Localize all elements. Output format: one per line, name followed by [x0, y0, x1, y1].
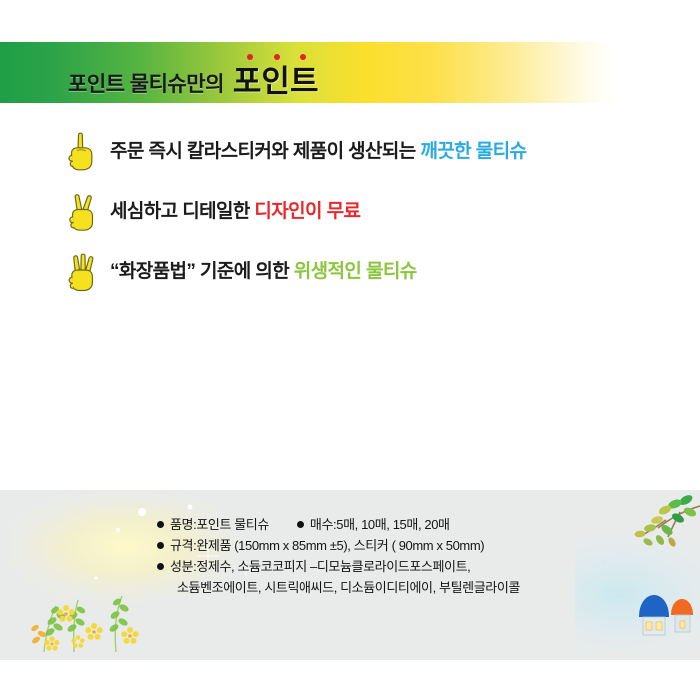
- leafy-branch-decoration: [620, 490, 700, 560]
- spec-label: 품명: [170, 514, 193, 535]
- bullet-dot-icon: [297, 521, 304, 528]
- page-title-prefix: 포인트 물티슈만의: [68, 74, 224, 97]
- houses-decoration: [635, 585, 695, 640]
- feature-point-highlight-text: 깨끗한 물티슈: [420, 141, 526, 162]
- page-title-emphasis: 포인트: [233, 64, 319, 99]
- feature-point-text: 주문 즉시 칼라스티커와 제품이 생산되는 깨끗한 물티슈: [110, 142, 526, 163]
- spec-value: 정제수, 소듐코코피지 –디모늄클로라이드포스페이트,: [196, 556, 470, 577]
- spec-value-continued: 소듐벤조에이트, 시트릭애씨드, 디소듐이디티에이, 부틸렌글라이콜: [177, 577, 520, 598]
- spec-item: 품명 : 포인트 물티슈: [157, 514, 269, 535]
- spec-row-name: 품명 : 포인트 물티슈 매수 : 5매, 10매, 15매, 20매: [157, 514, 520, 535]
- page-title-emphasis-wrap: 포인트: [233, 66, 319, 97]
- feature-point-list: 주문 즉시 칼라스티커와 제품이 생산되는 깨끗한 물티슈 세심하고 디테일한: [0, 122, 700, 302]
- title-dot-icon: [274, 54, 280, 60]
- feature-point-highlight-text: 위생적인 물티슈: [294, 261, 417, 282]
- title-dot-icon: [300, 54, 306, 60]
- bullet-dot-icon: [157, 563, 164, 570]
- bullet-dot-icon: [157, 521, 164, 528]
- plants-sprig-decoration: [16, 570, 166, 655]
- product-spec-list: 품명 : 포인트 물티슈 매수 : 5매, 10매, 15매, 20매 규격 :…: [157, 514, 520, 598]
- spec-row-ingredients-continued: 소듐벤조에이트, 시트릭애씨드, 디소듐이디티에이, 부틸렌글라이콜: [157, 577, 520, 598]
- spec-label: 규격: [170, 535, 193, 556]
- feature-point-row: “화장품법” 기준에 의한 위생적인 물티슈: [0, 242, 700, 302]
- feature-point-plain-text: 세심하고 디테일한: [110, 201, 250, 222]
- spec-row-size: 규격 : 완제품 (150mm x 85mm ±5), 스티커 ( 90mm x…: [157, 535, 520, 556]
- spec-row-ingredients: 성분 : 정제수, 소듐코코피지 –디모늄클로라이드포스페이트,: [157, 556, 520, 577]
- feature-point-highlight-text: 디자인이 무료: [254, 201, 360, 222]
- hand-two-fingers-icon: [62, 188, 102, 236]
- spec-value: 포인트 물티슈: [196, 514, 269, 535]
- title-dots-decoration: [237, 54, 323, 60]
- spec-item: 매수 : 5매, 10매, 15매, 20매: [297, 514, 450, 535]
- feature-point-row: 주문 즉시 칼라스티커와 제품이 생산되는 깨끗한 물티슈: [0, 122, 700, 182]
- product-spec-footer: 품명 : 포인트 물티슈 매수 : 5매, 10매, 15매, 20매 규격 :…: [0, 490, 700, 660]
- feature-point-text: 세심하고 디테일한 디자인이 무료: [110, 202, 360, 223]
- bullet-dot-icon: [157, 542, 164, 549]
- page-title: 포인트 물티슈만의 포인트: [68, 52, 318, 97]
- spec-value: 5매, 10매, 15매, 20매: [336, 514, 449, 535]
- spec-label: 매수: [310, 514, 333, 535]
- feature-point-plain-text: 주문 즉시 칼라스티커와 제품이 생산되는: [110, 141, 416, 162]
- feature-point-text: “화장품법” 기준에 의한 위생적인 물티슈: [110, 262, 417, 283]
- spec-label: 성분: [170, 556, 193, 577]
- hand-one-finger-icon: [62, 128, 102, 176]
- spec-value: 완제품 (150mm x 85mm ±5), 스티커 ( 90mm x 50mm…: [196, 535, 484, 556]
- hand-three-fingers-icon: [62, 248, 102, 296]
- infographic-page: 포인트 물티슈만의 포인트: [0, 0, 700, 700]
- title-dot-icon: [247, 54, 253, 60]
- feature-point-row: 세심하고 디테일한 디자인이 무료: [0, 182, 700, 242]
- feature-point-plain-text: “화장품법” 기준에 의한: [110, 261, 289, 282]
